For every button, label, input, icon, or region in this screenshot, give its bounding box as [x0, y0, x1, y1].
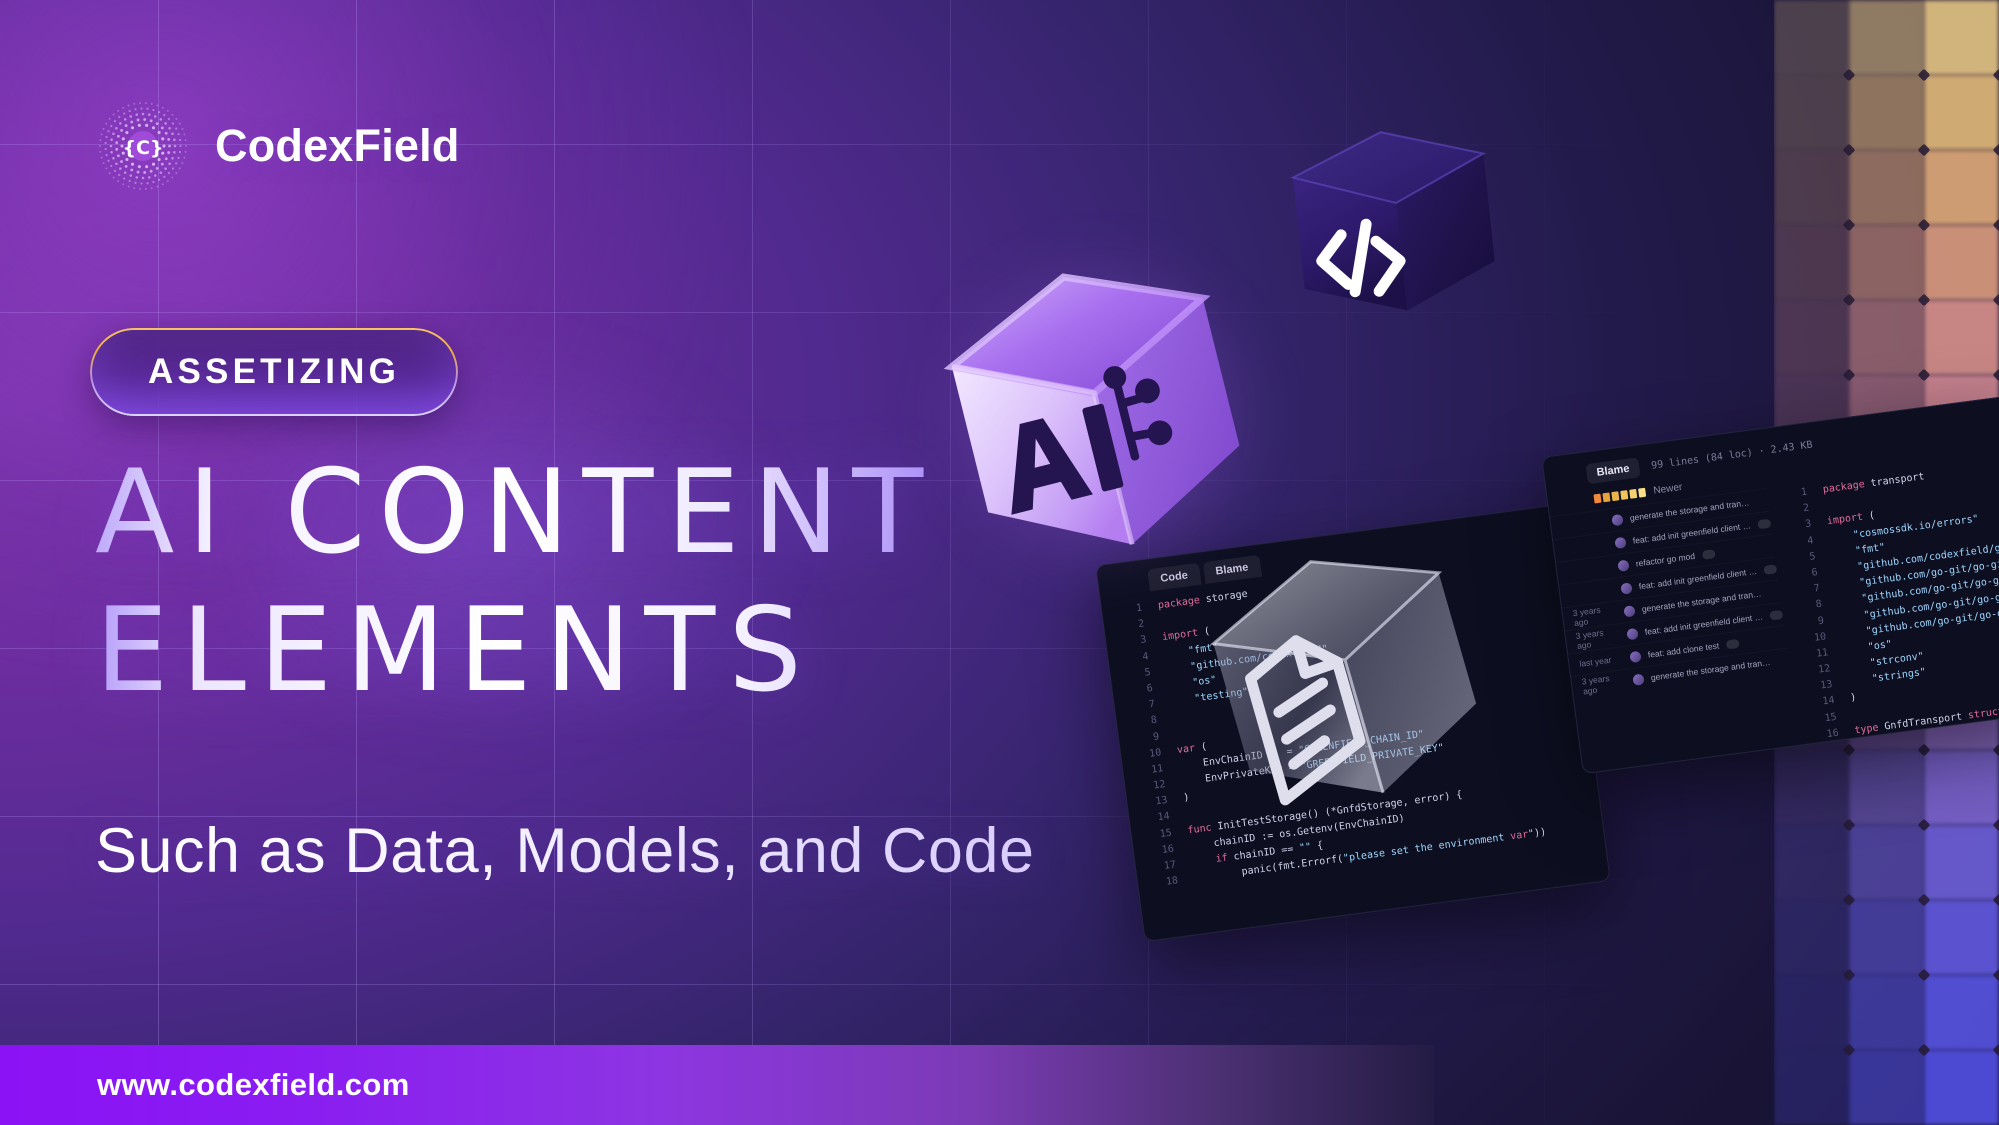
commit-avatar	[1614, 536, 1626, 548]
line-text: )	[1849, 690, 1857, 707]
brand-header: {C} CodexField	[97, 100, 460, 192]
line-text: )	[1182, 790, 1190, 807]
mosaic-tile	[1774, 900, 1849, 975]
commit-avatar	[1617, 559, 1629, 571]
assetizing-badge-wrapper: ASSETIZING	[92, 330, 456, 414]
code-cube	[1262, 112, 1512, 332]
mosaic-tile	[1849, 825, 1924, 900]
footer-bar: www.codexfield.com	[0, 1045, 1434, 1125]
blame-commit-list: generate the storage and tran…feat: add …	[1550, 488, 1807, 774]
mosaic-tile	[1774, 0, 1849, 75]
commit-age	[1567, 567, 1611, 573]
commit-avatar	[1611, 513, 1623, 525]
commit-avatar	[1632, 673, 1644, 685]
commit-expand-toggle[interactable]	[1757, 518, 1771, 529]
logo-glyph: {C}	[123, 137, 164, 159]
mosaic-tile	[1774, 75, 1849, 150]
commit-age	[1564, 544, 1608, 550]
mosaic-tile	[1849, 150, 1924, 225]
mosaic-tile	[1849, 750, 1924, 825]
mosaic-tile	[1924, 750, 1999, 825]
commit-age-bars	[1593, 488, 1646, 504]
commit-avatar	[1620, 582, 1632, 594]
commit-expand-toggle[interactable]	[1725, 638, 1739, 649]
mosaic-tile	[1924, 900, 1999, 975]
assetizing-badge[interactable]: ASSETIZING	[92, 330, 456, 414]
commit-expand-toggle[interactable]	[1769, 609, 1783, 620]
mosaic-tile	[1774, 750, 1849, 825]
mosaic-tile	[1774, 1050, 1849, 1125]
mosaic-tile	[1924, 300, 1999, 375]
mosaic-tile	[1924, 0, 1999, 75]
mosaic-tile	[1849, 975, 1924, 1050]
newer-label: Newer	[1653, 482, 1683, 497]
commit-age: last year	[1579, 653, 1624, 669]
mosaic-tile	[1849, 900, 1924, 975]
mosaic-tile	[1924, 150, 1999, 225]
mosaic-tile	[1849, 0, 1924, 75]
headline-line-1: AI CONTENT	[95, 455, 936, 571]
brand-name: CodexField	[215, 120, 460, 172]
subtitle: Such as Data, Models, and Code	[95, 815, 1035, 887]
promotional-banner: Code Blame 1package storage23import (4 "…	[0, 0, 1999, 1125]
mosaic-tile	[1849, 75, 1924, 150]
mosaic-tile	[1774, 975, 1849, 1050]
commit-avatar	[1623, 605, 1635, 617]
assetizing-badge-label: ASSETIZING	[148, 352, 400, 392]
mosaic-tile	[1924, 75, 1999, 150]
mosaic-tile	[1774, 825, 1849, 900]
commit-age	[1570, 590, 1614, 596]
mosaic-tile	[1924, 825, 1999, 900]
headline-line-2: ELEMENTS	[95, 593, 936, 709]
headline: AI CONTENT ELEMENTS	[95, 455, 936, 731]
codexfield-dotted-c-logo-icon: {C}	[97, 100, 189, 192]
mosaic-tile	[1924, 975, 1999, 1050]
document-cube	[1200, 525, 1500, 815]
mosaic-tile	[1849, 300, 1924, 375]
commit-avatar	[1629, 650, 1641, 662]
blame-tab[interactable]: Blame	[1585, 457, 1640, 484]
mosaic-tile	[1924, 225, 1999, 300]
commit-age: 3 years ago	[1581, 671, 1627, 697]
mosaic-tile	[1849, 225, 1924, 300]
mosaic-tile	[1774, 150, 1849, 225]
commit-avatar	[1626, 627, 1638, 639]
mosaic-tile	[1774, 225, 1849, 300]
website-url[interactable]: www.codexfield.com	[97, 1067, 410, 1103]
commit-expand-toggle[interactable]	[1763, 564, 1777, 575]
blame-viewer-panel: Blame 99 lines (84 loc) · 2.43 KB Newer …	[1541, 396, 1999, 775]
mosaic-tile	[1924, 1050, 1999, 1125]
commit-expand-toggle[interactable]	[1701, 549, 1715, 560]
commit-message[interactable]: refactor go mod	[1635, 551, 1695, 569]
mosaic-tile	[1774, 300, 1849, 375]
commit-age	[1561, 521, 1605, 527]
mosaic-tile	[1849, 1050, 1924, 1125]
